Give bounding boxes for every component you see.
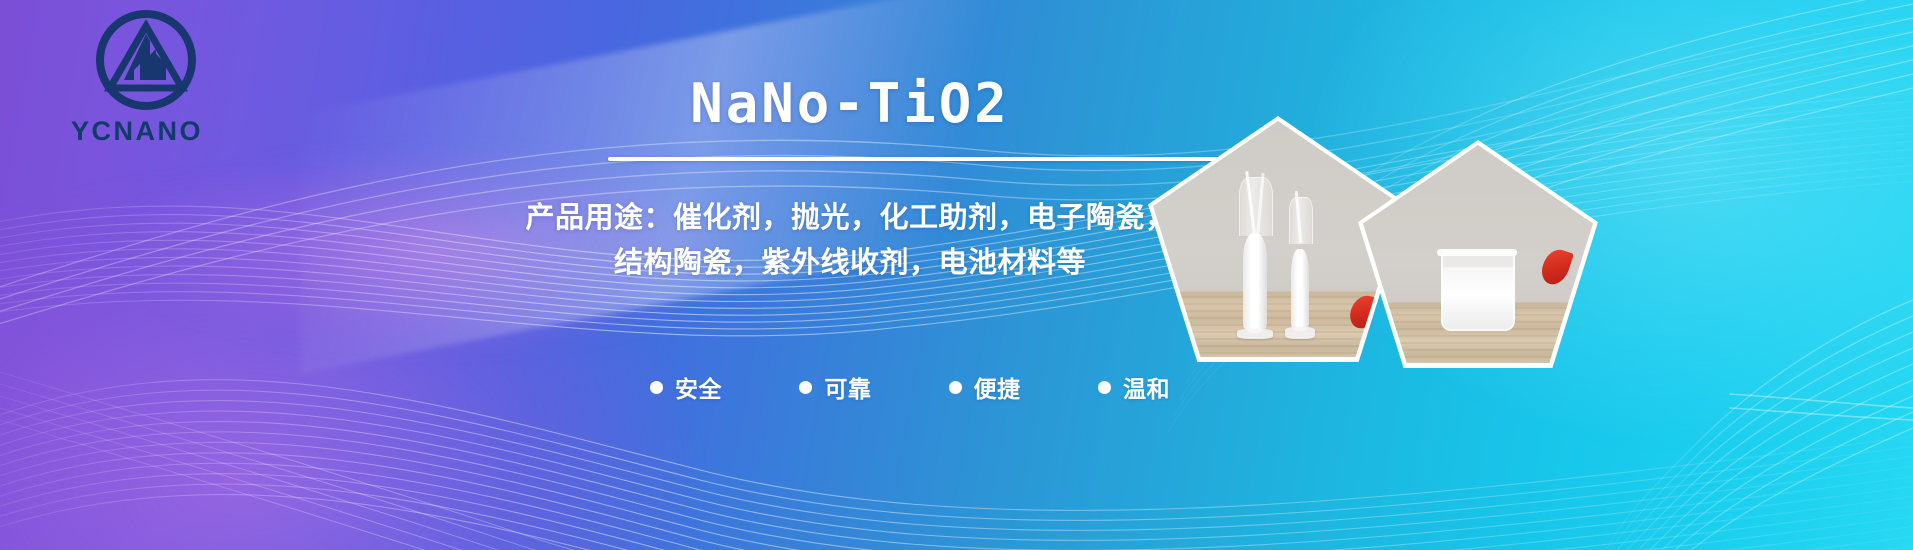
product-photo-beaker[interactable] [1358,140,1598,368]
page-title: NaNo-TiO2 [500,76,1200,133]
photo-image-beaker [1363,145,1593,363]
feature-item-safe: 安全 [650,370,722,404]
feature-label: 可靠 [824,370,871,404]
usage-line-2: 结构陶瓷，紫外线收剂，电池材料等 [490,241,1210,286]
feature-item-mild: 温和 [1098,370,1170,404]
bullet-dot-icon [949,381,962,394]
beaker-rim [1437,249,1517,256]
banner-content: NaNo-TiO2 产品用途：催化剂，抛光，化工助剂，电子陶瓷， 结构陶瓷，紫外… [500,0,1200,550]
bullet-dot-icon [799,381,812,394]
feature-item-convenient: 便捷 [949,370,1021,404]
product-usage-text: 产品用途：催化剂，抛光，化工助剂，电子陶瓷， 结构陶瓷，紫外线收剂，电池材料等 [490,196,1210,286]
vase-body-short [1291,249,1309,331]
usage-line-1: 产品用途：催化剂，抛光，化工助剂，电子陶瓷， [490,196,1210,241]
feature-label: 温和 [1123,370,1170,404]
feature-label: 便捷 [974,370,1021,404]
bullet-dot-icon [650,381,663,394]
vase-base-tall [1237,329,1273,339]
brand-name: YCNANO [42,116,232,147]
vase-base-short [1285,327,1315,339]
brand-logo[interactable]: YCNANO [42,8,232,158]
beaker-vessel [1441,251,1515,331]
ycnano-logo-icon [94,8,198,112]
feature-item-reliable: 可靠 [799,370,871,404]
vase-body-tall [1243,233,1267,333]
feature-label: 安全 [675,370,722,404]
bullet-dot-icon [1098,381,1111,394]
feature-list: 安全 可靠 便捷 温和 [650,370,1170,404]
product-banner: YCNANO NaNo-TiO2 产品用途：催化剂，抛光，化工助剂，电子陶瓷， … [0,0,1913,550]
